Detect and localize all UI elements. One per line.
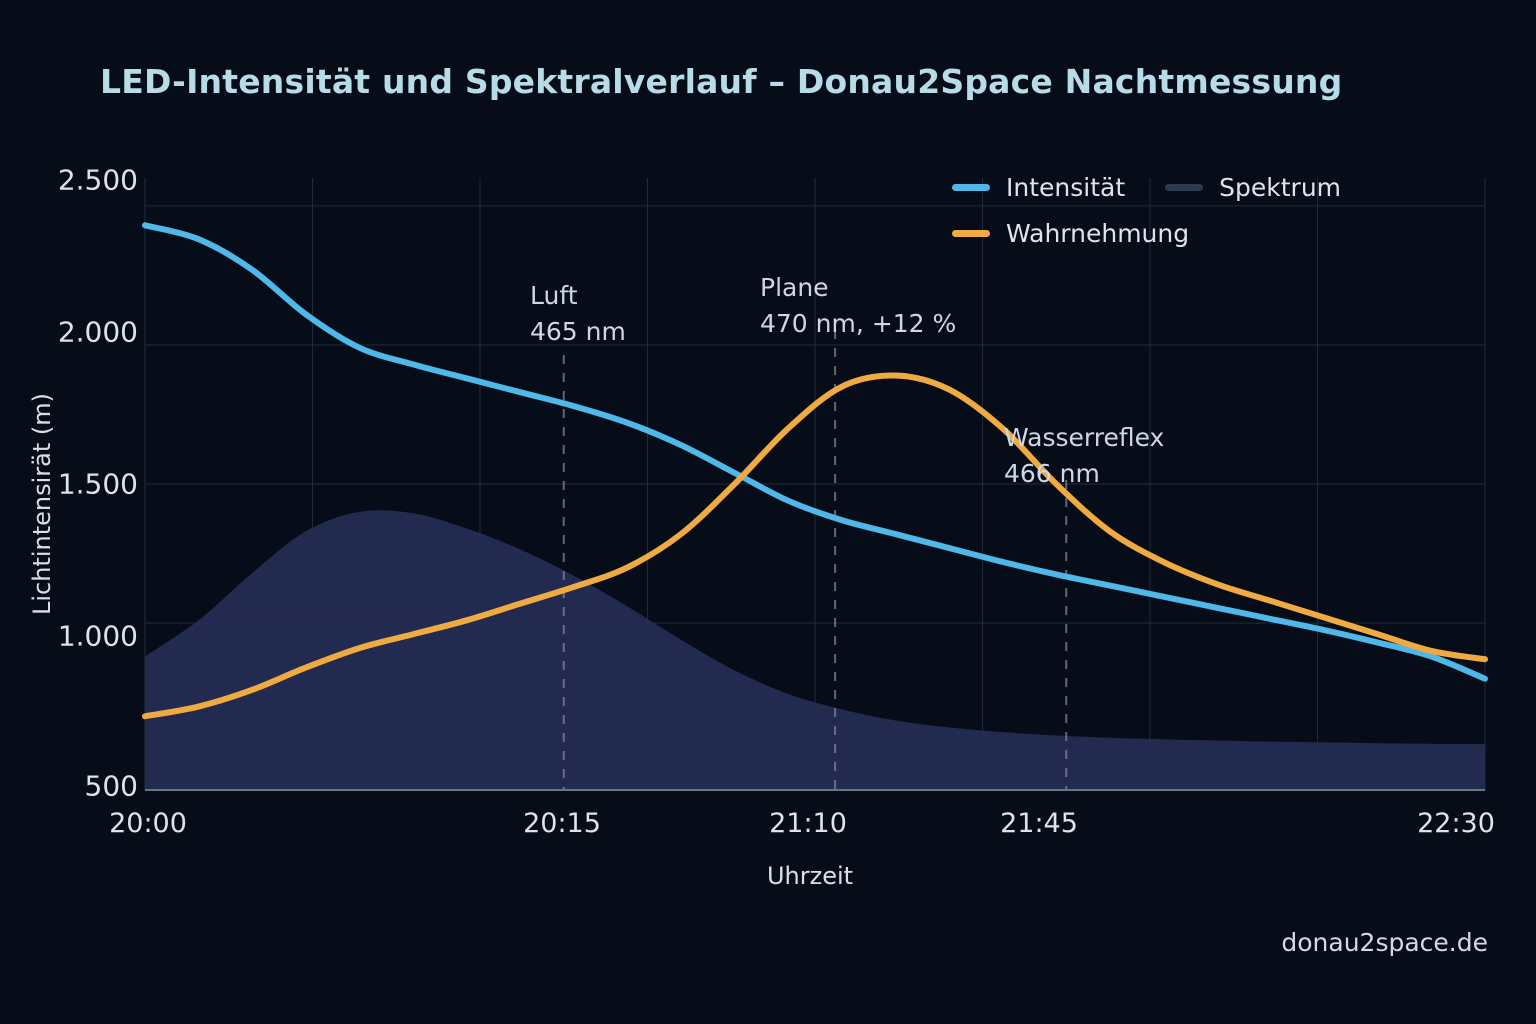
annotation-detail: 470 nm, +12 % (760, 306, 956, 342)
x-tick-label: 20:15 (523, 808, 601, 839)
y-tick-label: 1.000 (0, 620, 138, 653)
annotation-title: Wasserreflex (1004, 420, 1164, 456)
annotation-vlines (564, 330, 1067, 790)
annotation-wasserreflex: Wasserreflex 466 nm (1004, 420, 1164, 491)
legend: Intensität Spektrum Wahrnehmung (952, 164, 1341, 256)
legend-label: Intensität (1006, 173, 1125, 202)
chart-title: LED-Intensität und Spektralverlauf – Don… (100, 62, 1342, 101)
annotation-luft: Luft 465 nm (530, 278, 626, 349)
legend-label: Spektrum (1219, 173, 1341, 202)
legend-swatch-icon (952, 230, 990, 237)
legend-item-intensitaet[interactable]: Intensität (952, 173, 1125, 202)
legend-label: Wahrnehmung (1006, 219, 1189, 248)
y-tick-label: 500 (0, 770, 138, 803)
legend-swatch-icon (952, 184, 990, 191)
watermark: donau2space.de (1281, 928, 1488, 957)
annotation-detail: 465 nm (530, 314, 626, 350)
series-spectrum-area (145, 510, 1485, 790)
y-tick-label: 2.500 (0, 164, 138, 197)
legend-item-wahrnehmung[interactable]: Wahrnehmung (952, 219, 1189, 248)
x-tick-label: 20:00 (109, 808, 187, 839)
x-axis-title: Uhrzeit (0, 862, 1536, 890)
x-tick-label: 21:10 (769, 808, 847, 839)
x-tick-label: 22:30 (1417, 808, 1495, 839)
chart-container: LED-Intensität und Spektralverlauf – Don… (0, 0, 1536, 1024)
legend-swatch-icon (1165, 184, 1203, 191)
annotation-detail: 466 nm (1004, 456, 1164, 492)
annotation-title: Plane (760, 270, 956, 306)
legend-item-spektrum[interactable]: Spektrum (1165, 173, 1341, 202)
x-tick-label: 21:45 (1000, 808, 1078, 839)
annotation-title: Luft (530, 278, 626, 314)
y-axis-title: Lichtintensirät (m) (28, 354, 56, 654)
y-tick-label: 2.000 (0, 316, 138, 349)
annotation-plane: Plane 470 nm, +12 % (760, 270, 956, 341)
y-tick-label: 1.500 (0, 468, 138, 501)
